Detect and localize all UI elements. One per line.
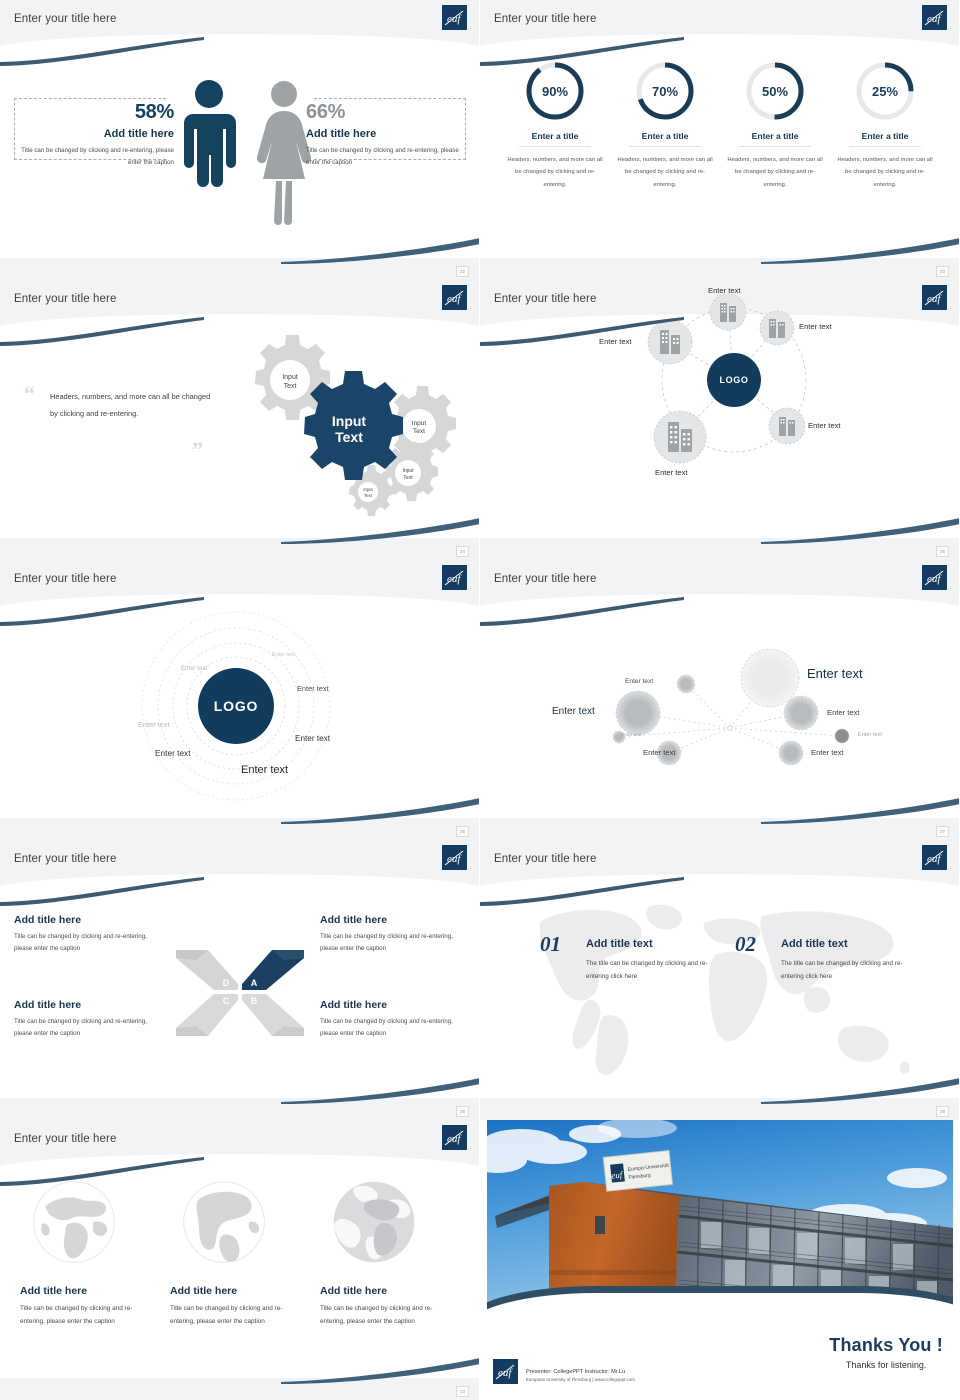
globe-heading: Add title here: [20, 1285, 160, 1297]
page-number: 25: [936, 546, 949, 557]
globe-icon-americas: [176, 1174, 272, 1270]
globe-item: Add title here Title can be changed by c…: [320, 1174, 460, 1328]
slide-footer-band: [480, 538, 960, 560]
bubble-label-1: Enter text: [625, 678, 653, 685]
euf-logo-icon: euf: [442, 1125, 467, 1150]
bubble-label-3: Enter text: [552, 706, 595, 717]
item-heading: Add title text: [781, 938, 848, 950]
bubble-label-4: Enter text: [621, 733, 642, 738]
svg-text:LOGO: LOGO: [720, 375, 749, 385]
building-icon: [769, 408, 805, 444]
euf-logo-icon: euf: [493, 1359, 518, 1384]
donut-chart-90: 90%: [524, 60, 586, 122]
node-label-lower-right: Enter text: [808, 421, 841, 430]
quadrant-heading: Add title here: [320, 999, 472, 1011]
page-number: 29: [936, 1106, 949, 1117]
slide-footer-band: [0, 538, 480, 560]
page-number: 24: [456, 546, 469, 557]
slide-footer-band: [480, 1098, 960, 1120]
globe-heading: Add title here: [170, 1285, 310, 1297]
svg-text:euf: euf: [927, 13, 942, 25]
quote-text: Headers, numbers, and more can all be ch…: [50, 389, 216, 422]
kpi-value: 70%: [634, 60, 696, 122]
bubble-node: [835, 729, 849, 743]
thanks-title: Thanks You !: [829, 1335, 943, 1356]
slide-thumbnail-grid: Enter your title here euf: [0, 0, 960, 1400]
left-body-text: Title can be changed by clicking and re-…: [14, 145, 174, 169]
world-map-watermark: [510, 892, 930, 1082]
euf-logo-icon: euf: [442, 5, 467, 30]
kpi-value: 25%: [854, 60, 916, 122]
svg-text:Text: Text: [335, 429, 363, 445]
page-title: Enter your title here: [14, 853, 116, 865]
page-title: Enter your title here: [494, 853, 596, 865]
slide-7-content: Add title here Title can be changed by c…: [0, 886, 480, 1098]
ring-label-3: Enter text: [297, 684, 329, 693]
building-icon: [654, 411, 706, 463]
node-label-left: Enter text: [599, 337, 632, 346]
gear-icon-primary: Input Text: [304, 371, 403, 480]
bubble-label-6: Enter text: [811, 748, 844, 757]
page-title: Enter your title here: [14, 293, 116, 305]
female-figure-icon: [255, 78, 313, 226]
page-number: 23: [936, 266, 949, 277]
node-label-top: Enter text: [708, 286, 741, 295]
presenter-line: Presenter: CollegePPT Instructor: Mr.Lu: [526, 1369, 635, 1375]
page-number: 27: [936, 826, 949, 837]
quadrant-a-text: Add title here Title can be changed by c…: [320, 914, 472, 956]
svg-text:euf: euf: [447, 293, 462, 305]
svg-text:C: C: [223, 996, 230, 1006]
gear-cluster-diagram: Input Text Input Text Input Text: [222, 328, 472, 528]
quadrant-shape-c: C: [176, 994, 238, 1036]
slide-footer-band: [0, 1098, 480, 1120]
euf-logo-icon: euf: [922, 565, 947, 590]
slide-footer-band: [0, 818, 480, 840]
bubble-node: [677, 675, 695, 693]
kpi-body: Headers, numbers, and more can all be ch…: [615, 154, 715, 191]
photo-bottom-curve-mask: [487, 1293, 953, 1325]
page-number: 28: [456, 1106, 469, 1117]
thanks-subtitle: Thanks for listening.: [829, 1360, 943, 1370]
item-body: The title can be changed by clicking and…: [781, 958, 916, 984]
kpi-title: Enter a title: [739, 131, 811, 147]
svg-text:euf: euf: [447, 853, 462, 865]
euf-logo-icon: euf: [442, 845, 467, 870]
slide-footer-band: [480, 258, 960, 280]
slide-9-content: Add title here Title can be changed by c…: [0, 1166, 480, 1378]
bubble-label-2: Enter text: [807, 666, 863, 681]
quote-open-icon: “: [24, 387, 35, 400]
svg-text:LOGO: LOGO: [214, 698, 258, 714]
kpi-body: Headers, numbers, and more can all be ch…: [835, 154, 935, 191]
concentric-rings-diagram: LOGO: [0, 606, 480, 818]
male-figure-icon: [180, 78, 238, 226]
kpi-title: Enter a title: [849, 131, 921, 147]
slide-footer-band: [0, 1378, 480, 1400]
kpi-title: Enter a title: [629, 131, 701, 147]
ring-label-4: Enter text: [138, 720, 170, 729]
svg-text:Input: Input: [402, 468, 414, 474]
svg-text:Text: Text: [364, 493, 373, 498]
kpi-row: 90% Enter a title Headers, numbers, and …: [500, 60, 940, 191]
donut-chart-70: 70%: [634, 60, 696, 122]
globe-row: Add title here Title can be changed by c…: [10, 1174, 470, 1328]
slide-concentric-rings[interactable]: Enter your title here euf LOGO: [0, 560, 480, 840]
globe-body: Title can be changed by clicking and re-…: [320, 1302, 438, 1328]
globe-heading: Add title here: [320, 1285, 460, 1297]
svg-text:Text: Text: [403, 475, 413, 481]
bubble-label-5: Enter text: [643, 748, 676, 757]
quadrant-shape-d: D: [176, 950, 238, 990]
bubble-label-8: Enter text: [858, 732, 882, 738]
euf-logo-icon: euf: [922, 285, 947, 310]
kpi-body: Headers, numbers, and more can all be ch…: [725, 154, 825, 191]
item-number: 01: [540, 932, 561, 957]
slide-5-content: LOGO Enter text Enter text Enter text En…: [0, 606, 480, 818]
quadrant-heading: Add title here: [320, 914, 472, 926]
ring-label-6: Enter text: [155, 748, 191, 758]
slide-canvas: euf Europa-Universität Flensburg: [480, 1120, 959, 1400]
svg-text:D: D: [223, 978, 230, 988]
slide-two-numbers-map[interactable]: Enter your title here euf: [480, 840, 960, 1120]
item-heading: Add title text: [586, 938, 653, 950]
quadrant-heading: Add title here: [14, 914, 166, 926]
kpi-item: 90% Enter a title Headers, numbers, and …: [505, 60, 605, 191]
svg-text:Input: Input: [282, 374, 298, 381]
euf-logo-icon: euf: [442, 285, 467, 310]
kpi-value: 90%: [524, 60, 586, 122]
svg-text:euf: euf: [447, 13, 462, 25]
quote-close-icon: ”: [192, 443, 203, 456]
quadrant-shape-a: A: [242, 950, 304, 990]
svg-text:euf: euf: [927, 853, 942, 865]
item-number: 02: [735, 932, 756, 957]
kpi-title: Enter a title: [519, 131, 591, 147]
page-title: Enter your title here: [494, 293, 596, 305]
ring-label-5: Enter text: [295, 734, 330, 743]
institution-line: European University of Flensburg | www.c…: [526, 1377, 635, 1382]
svg-text:euf: euf: [447, 1133, 462, 1145]
slide-footer-band: [480, 818, 960, 840]
page-title: Enter your title here: [14, 13, 116, 25]
quadrant-heading: Add title here: [14, 999, 166, 1011]
svg-text:Input: Input: [412, 420, 427, 427]
ring-label-2: Enter text: [181, 665, 207, 672]
svg-text:Text: Text: [284, 383, 297, 390]
page-title: Enter your title here: [14, 573, 116, 585]
svg-text:Input: Input: [363, 487, 373, 492]
slide-6-content: Enter text Enter text Enter text Enter t…: [480, 606, 960, 818]
quadrant-shape-b: B: [242, 994, 304, 1036]
svg-text:euf: euf: [447, 573, 462, 585]
slide-bubble-network[interactable]: Enter your title here euf: [480, 560, 960, 840]
quadrant-b-text: Add title here Title can be changed by c…: [320, 999, 472, 1041]
page-number: 22: [456, 266, 469, 277]
slide-closing-thanks[interactable]: euf Europa-Universität Flensburg: [480, 1120, 960, 1400]
svg-text:euf: euf: [498, 1367, 513, 1379]
quadrant-body: Title can be changed by clicking and re-…: [14, 1016, 166, 1041]
thanks-block: Thanks You ! Thanks for listening.: [829, 1335, 943, 1370]
slide-4-content: LOGO Enter text Enter text Enter text En…: [480, 280, 960, 492]
item-body: The title can be changed by clicking and…: [586, 958, 721, 984]
svg-text:euf: euf: [927, 293, 942, 305]
slide-donut-kpis[interactable]: Enter your title here euf: [480, 0, 960, 280]
slide-butterfly-abcd[interactable]: Enter your title here euf Add title here…: [0, 840, 480, 1120]
svg-text:Input: Input: [332, 413, 367, 429]
slide-8-content: 01 Add title text The title can be chang…: [480, 886, 960, 1098]
donut-chart-25: 25%: [854, 60, 916, 122]
university-building-photo: euf Europa-Universität Flensburg: [487, 1120, 953, 1325]
slide-three-globes[interactable]: Enter your title here euf: [0, 1120, 480, 1400]
euf-logo-icon: euf: [922, 5, 947, 30]
building-icon: [710, 294, 746, 330]
quadrant-c-text: Add title here Title can be changed by c…: [14, 999, 166, 1041]
kpi-item: 70% Enter a title Headers, numbers, and …: [615, 60, 715, 191]
slide-gears[interactable]: Enter your title here euf “ Headers, num…: [0, 280, 480, 560]
svg-text:A: A: [251, 978, 258, 988]
node-label-upper-right: Enter text: [799, 322, 832, 331]
bubble-label-7: Enter text: [827, 708, 860, 717]
slide-hub-spokes[interactable]: Enter your title here euf: [480, 280, 960, 560]
svg-text:euf: euf: [927, 573, 942, 585]
slide-people-percent[interactable]: Enter your title here euf: [0, 0, 480, 280]
node-label-bottom-left: Enter text: [655, 468, 688, 477]
page-number: 13: [456, 1386, 469, 1397]
bubble-node: [784, 696, 818, 730]
page-title: Enter your title here: [14, 1133, 116, 1145]
building-icon: [760, 311, 794, 345]
kpi-item: 50% Enter a title Headers, numbers, and …: [725, 60, 825, 191]
euf-logo-icon: euf: [922, 845, 947, 870]
quadrant-body: Title can be changed by clicking and re-…: [320, 1016, 472, 1041]
slide-3-content: “ Headers, numbers, and more can all be …: [0, 326, 480, 538]
ring-label-7: Enter text: [241, 764, 288, 776]
page-number: 26: [456, 826, 469, 837]
svg-text:B: B: [251, 996, 258, 1006]
quadrant-d-text: Add title here Title can be changed by c…: [14, 914, 166, 956]
left-heading: Add title here: [14, 128, 174, 140]
quadrant-body: Title can be changed by clicking and re-…: [320, 931, 472, 956]
svg-text:Text: Text: [413, 428, 425, 435]
building-icon: [648, 320, 692, 364]
right-heading: Add title here: [306, 128, 466, 140]
bubble-node: [779, 741, 803, 765]
donut-chart-50: 50%: [744, 60, 806, 122]
page-title: Enter your title here: [494, 573, 596, 585]
quadrant-body: Title can be changed by clicking and re-…: [14, 931, 166, 956]
left-stat-block: 58% Add title here Title can be changed …: [14, 101, 174, 169]
slide-footer-band: [0, 258, 480, 280]
bubble-node: [741, 649, 799, 707]
globe-body: Title can be changed by clicking and re-…: [170, 1302, 288, 1328]
globe-icon-atlantic: [326, 1174, 422, 1270]
slide-1-content: 58% Add title here Title can be changed …: [0, 46, 480, 258]
hub-spoke-diagram: LOGO: [480, 280, 960, 492]
ring-label-1: Enter text: [272, 652, 295, 658]
butterfly-abcd-diagram: D C B A: [174, 938, 306, 1048]
presenter-footer: Presenter: CollegePPT Instructor: Mr.Lu …: [526, 1369, 635, 1382]
globe-item: Add title here Title can be changed by c…: [20, 1174, 160, 1328]
page-title: Enter your title here: [494, 13, 596, 25]
bubble-node: [616, 691, 660, 735]
kpi-item: 25% Enter a title Headers, numbers, and …: [835, 60, 935, 191]
slide-2-content: 90% Enter a title Headers, numbers, and …: [480, 46, 960, 258]
right-body-text: Title can be changed by clicking and re-…: [306, 145, 466, 169]
left-percent-value: 58%: [14, 101, 174, 124]
right-percent-value: 66%: [306, 101, 466, 124]
globe-item: Add title here Title can be changed by c…: [170, 1174, 310, 1328]
globe-icon-eurasia: [26, 1174, 122, 1270]
right-stat-block: 66% Add title here Title can be changed …: [306, 101, 466, 169]
kpi-body: Headers, numbers, and more can all be ch…: [505, 154, 605, 191]
euf-logo-icon: euf: [442, 565, 467, 590]
kpi-value: 50%: [744, 60, 806, 122]
globe-body: Title can be changed by clicking and re-…: [20, 1302, 138, 1328]
